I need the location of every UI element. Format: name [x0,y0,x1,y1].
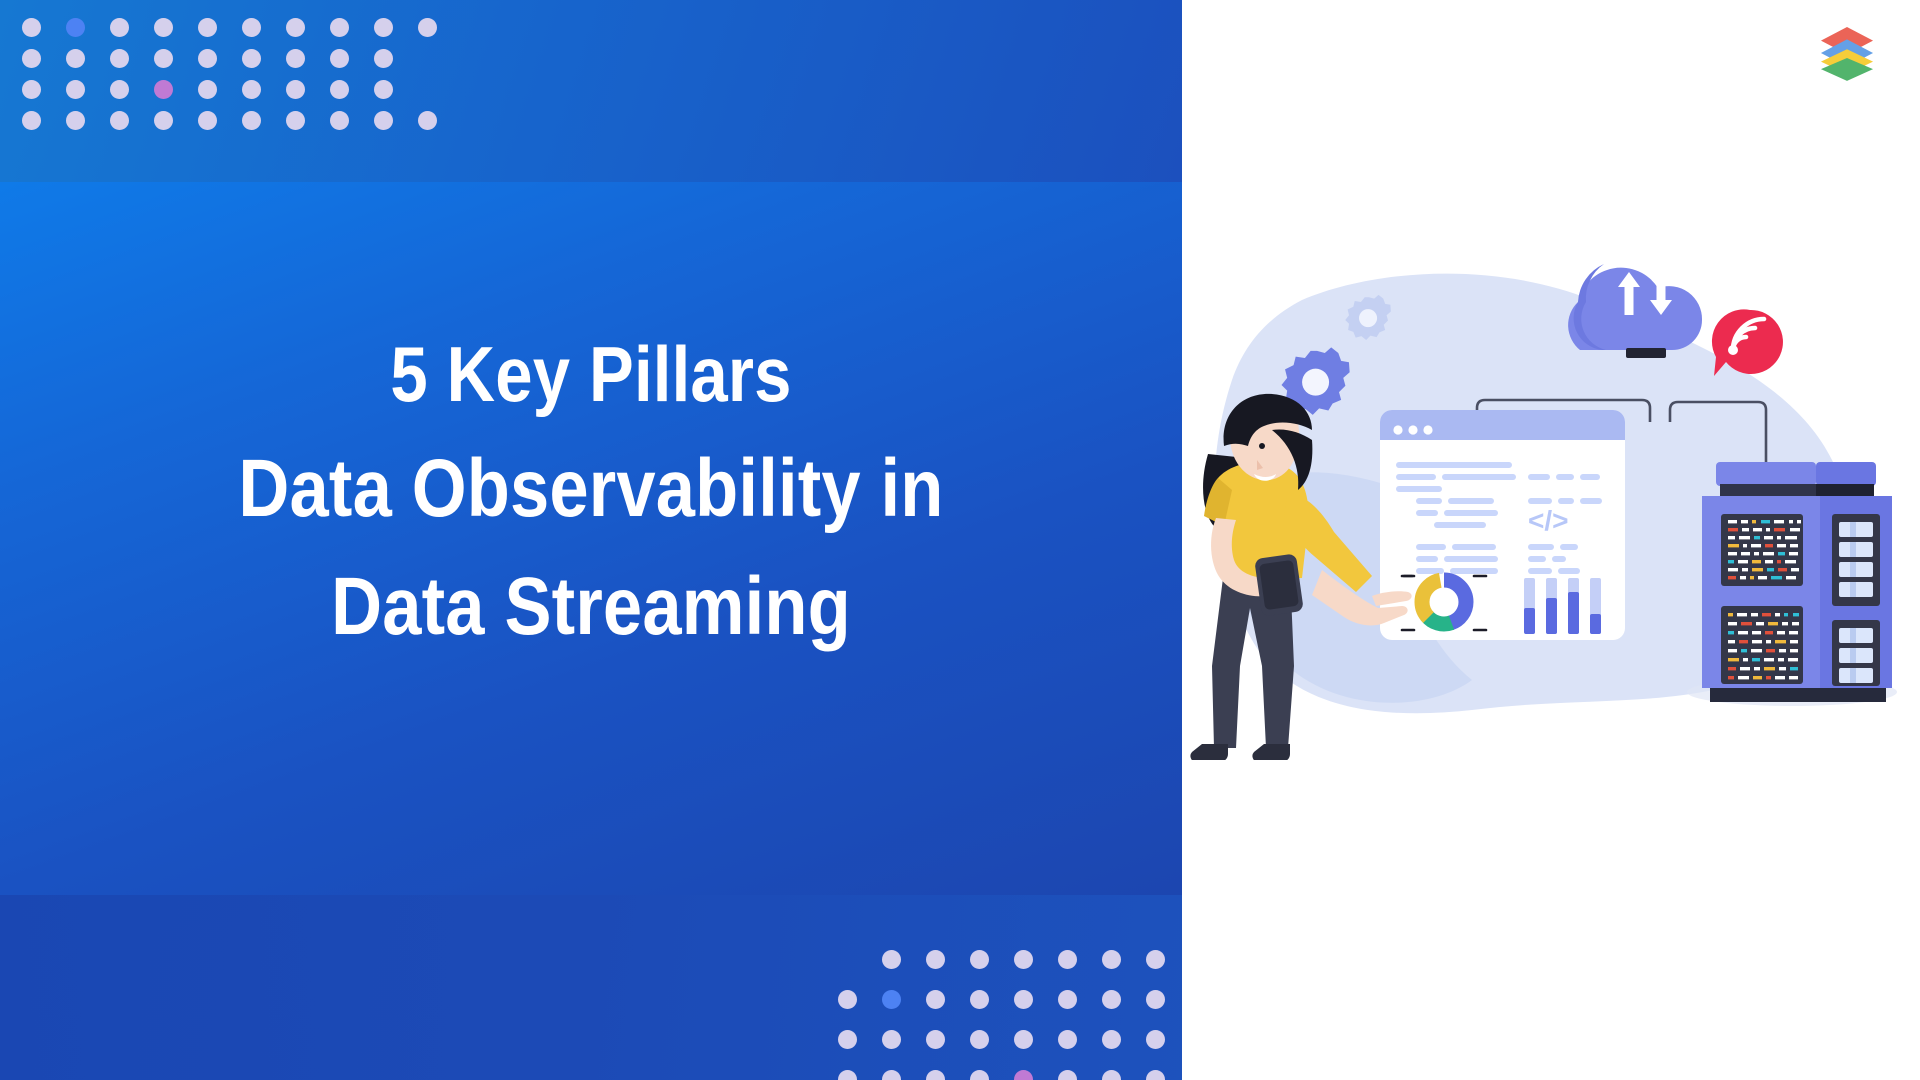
decorative-dot [22,49,41,68]
decorative-dot [926,1070,945,1080]
drive-bays-lower [1839,628,1873,683]
decorative-dot [198,111,217,130]
decorative-dot [970,1030,989,1049]
decorative-dot [242,80,261,99]
slide-canvas: 5 Key Pillars Data Observability in Data… [0,0,1920,1080]
hero-blue-panel: 5 Key Pillars Data Observability in Data… [0,0,1182,1080]
decorative-dot [286,80,305,99]
decorative-dot [838,1070,857,1080]
decorative-dot [198,18,217,37]
decorative-dot [418,111,437,130]
decorative-dot [198,49,217,68]
decorative-dot-grid-top [22,18,462,142]
browser-window: </> [1380,410,1625,640]
decorative-dot [882,1030,901,1049]
decorative-dot [1014,1030,1033,1049]
decorative-dot [1014,950,1033,969]
decorative-dot [1014,1070,1033,1080]
decorative-dot [66,111,85,130]
decorative-dot [1146,1030,1165,1049]
decorative-dot [1058,1070,1077,1080]
page-title: 5 Key Pillars Data Observability in Data… [0,318,1182,666]
decorative-dot [66,18,85,37]
decorative-dot [110,49,129,68]
title-line-2: Data Observability in [83,430,1100,548]
decorative-dot [374,111,393,130]
decorative-dot [1146,1070,1165,1080]
decorative-dot [22,18,41,37]
data-streaming-illustration: </> [1182,0,1920,1080]
decorative-dot [1102,1030,1121,1049]
decorative-dot [110,111,129,130]
decorative-dot [838,1030,857,1049]
decorative-dot [198,80,217,99]
decorative-dot [838,990,857,1009]
code-brackets-icon: </> [1528,505,1568,536]
decorative-dot [418,18,437,37]
decorative-dot [374,49,393,68]
window-dots [1393,425,1432,434]
decorative-dot [1058,990,1077,1009]
decorative-dot [286,111,305,130]
decorative-dot [110,18,129,37]
decorative-dot [22,111,41,130]
decorative-dot [330,18,349,37]
decorative-dot [882,950,901,969]
decorative-dot [926,1030,945,1049]
decorative-dot [1058,950,1077,969]
decorative-dot [66,49,85,68]
decorative-dot [882,990,901,1009]
decorative-dot [286,18,305,37]
title-line-1: 5 Key Pillars [83,318,1100,430]
decorative-dot [970,950,989,969]
decorative-dot [1146,950,1165,969]
decorative-dot [970,990,989,1009]
decorative-dot [1102,1070,1121,1080]
decorative-dot [1146,990,1165,1009]
decorative-dot [286,49,305,68]
decorative-dot [330,49,349,68]
decorative-dot [22,80,41,99]
decorative-dot [154,80,173,99]
decorative-dot [242,49,261,68]
decorative-dot [926,990,945,1009]
decorative-dot [1102,990,1121,1009]
illustration-svg: </> [1172,240,1910,760]
decorative-dot [66,80,85,99]
decorative-dot-grid-bottom [838,950,1182,1080]
decorative-dot [154,18,173,37]
decorative-dot [926,950,945,969]
decorative-dot [970,1070,989,1080]
decorative-dot [330,111,349,130]
title-line-3: Data Streaming [83,548,1100,666]
decorative-dot [242,111,261,130]
decorative-dot [330,80,349,99]
decorative-dot [154,111,173,130]
decorative-dot [154,49,173,68]
decorative-dot [882,1070,901,1080]
decorative-dot [110,80,129,99]
decorative-dot [242,18,261,37]
decorative-dot [374,80,393,99]
decorative-dot [1102,950,1121,969]
server-rack [1687,462,1897,706]
decorative-dot [1058,1030,1077,1049]
decorative-dot [1014,990,1033,1009]
cloud-icon [1568,264,1702,358]
decorative-dot [374,18,393,37]
